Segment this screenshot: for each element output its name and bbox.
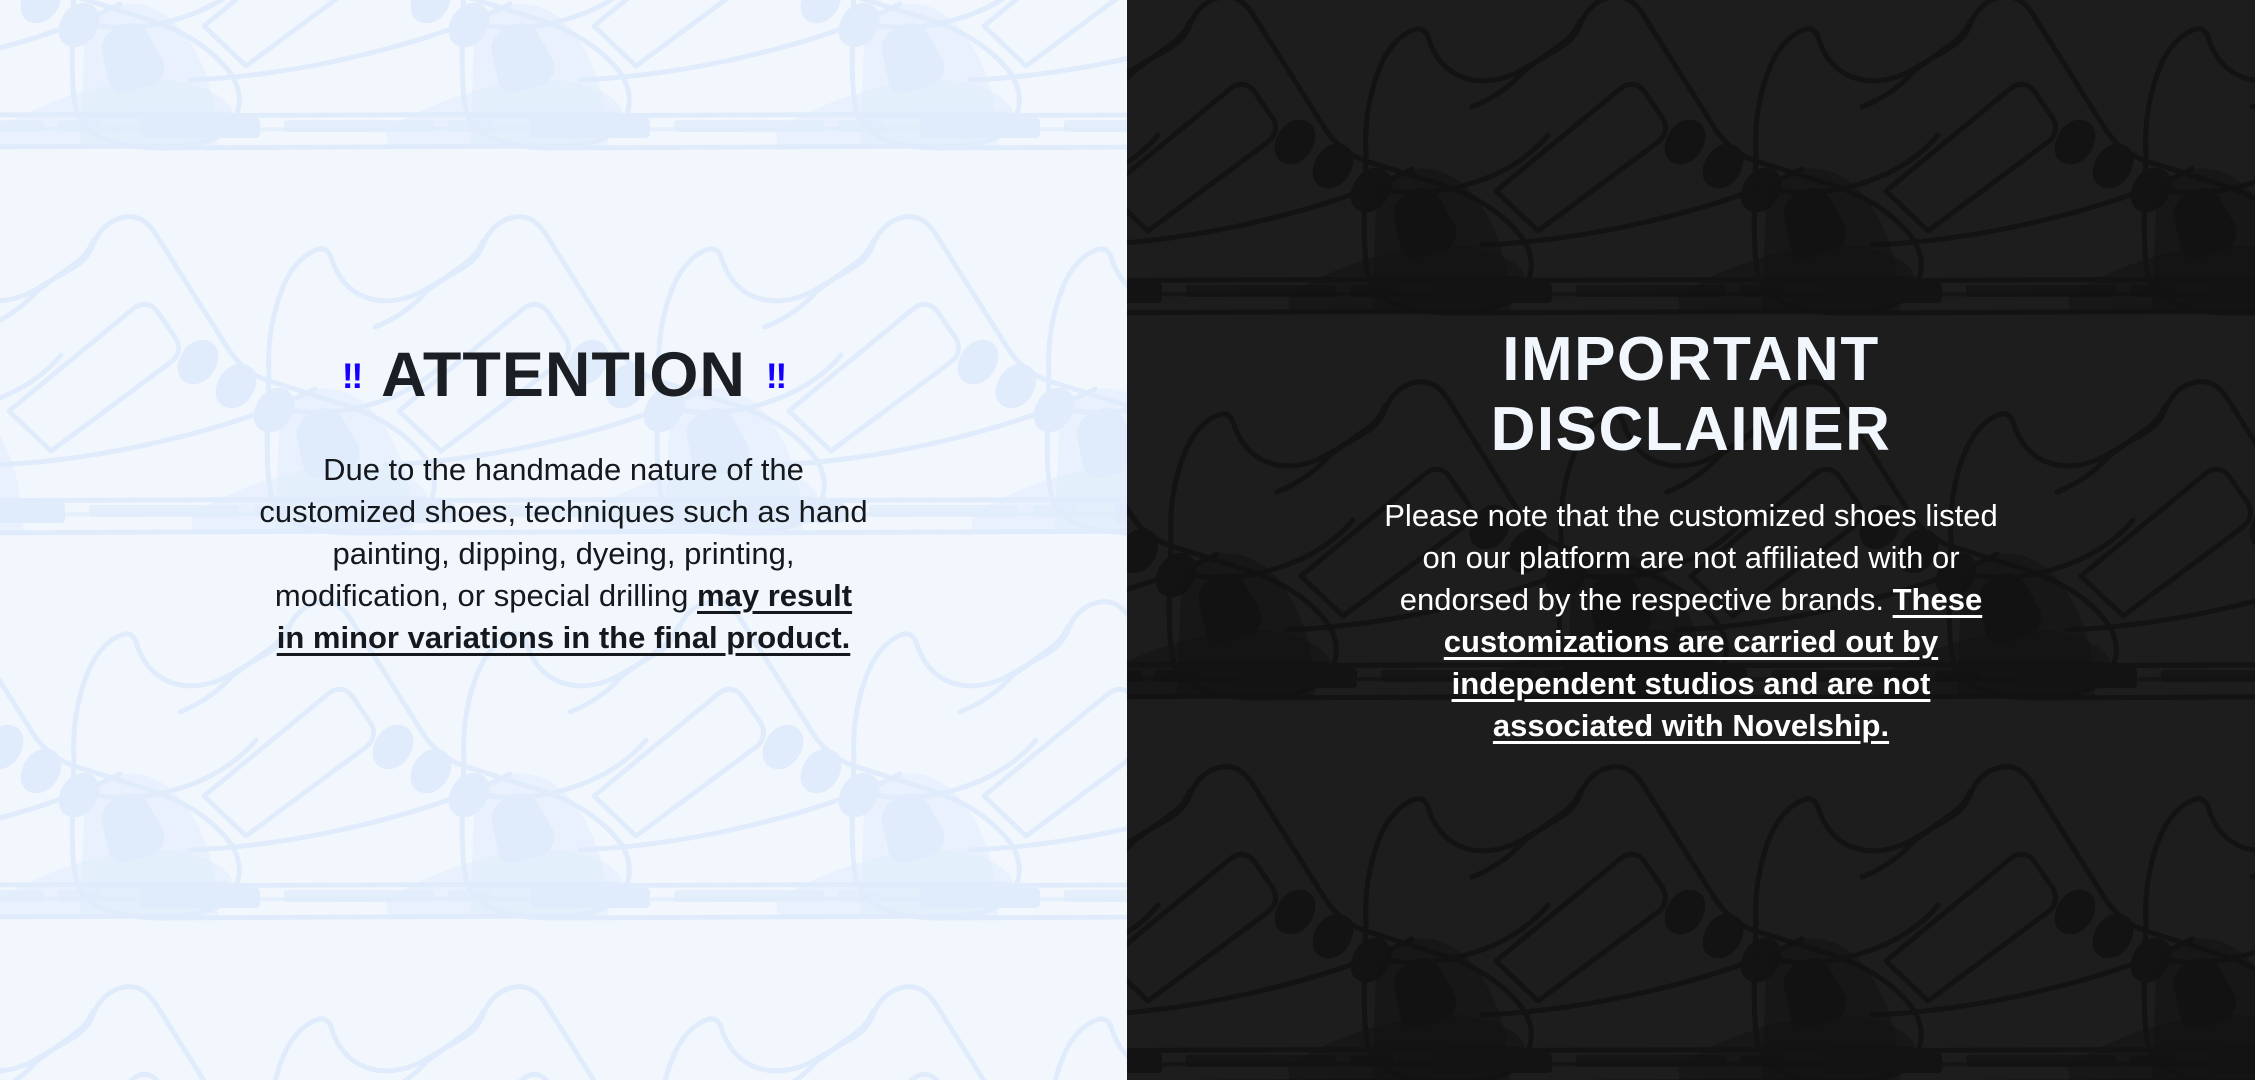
double-exclamation-icon-right: ‼ (766, 358, 785, 395)
attention-body: Due to the handmade nature of the custom… (259, 449, 869, 659)
disclaimer-content: IMPORTANT DISCLAIMER Please note that th… (1127, 325, 2255, 747)
disclaimer-heading-line1: IMPORTANT (1502, 325, 1879, 394)
disclaimer-panel: IMPORTANT DISCLAIMER Please note that th… (1127, 0, 2255, 1080)
double-exclamation-icon-left: ‼ (342, 358, 361, 395)
disclaimer-banner: ‼ATTENTION‼ Due to the handmade nature o… (0, 0, 2255, 1080)
attention-content: ‼ATTENTION‼ Due to the handmade nature o… (0, 342, 1127, 659)
attention-panel: ‼ATTENTION‼ Due to the handmade nature o… (0, 0, 1127, 1080)
attention-heading: ‼ATTENTION‼ (0, 342, 1127, 409)
disclaimer-heading: IMPORTANT DISCLAIMER (1371, 325, 2011, 465)
disclaimer-heading-line2: DISCLAIMER (1491, 395, 1892, 464)
disclaimer-body: Please note that the customized shoes li… (1381, 495, 2001, 747)
attention-heading-title: ATTENTION (381, 340, 746, 410)
